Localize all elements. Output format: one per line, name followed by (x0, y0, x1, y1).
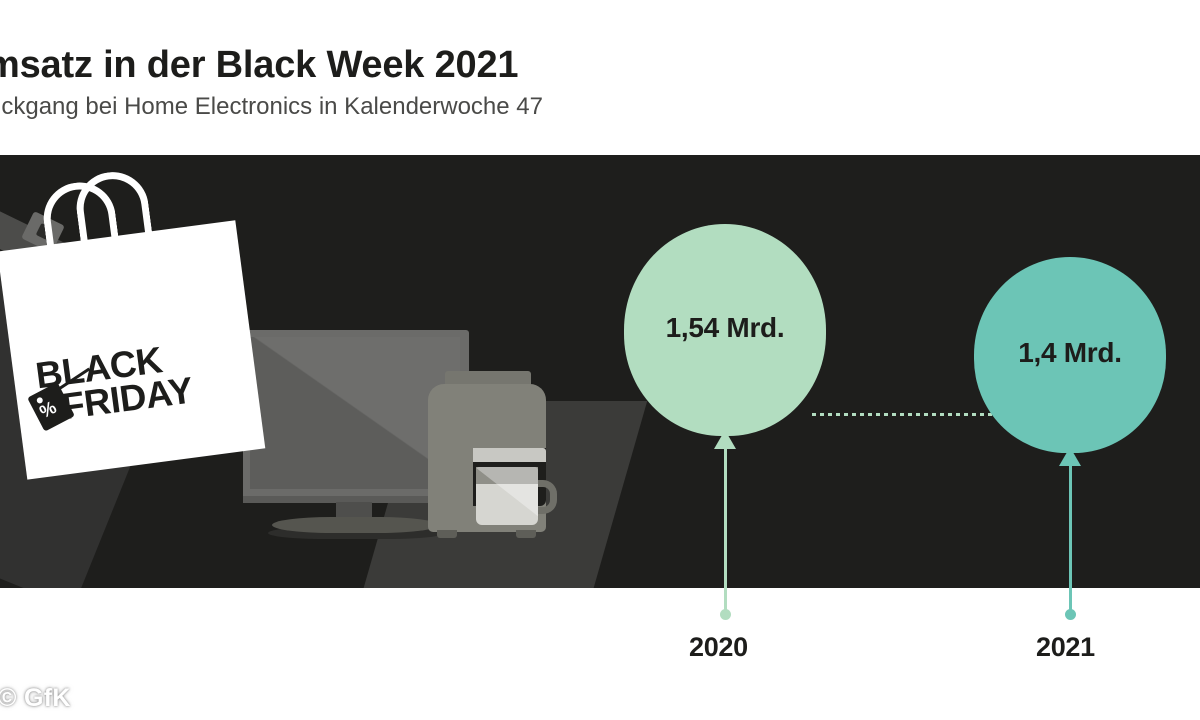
page-subtitle: ückgang bei Home Electronics in Kalender… (0, 93, 543, 121)
product-illustration: BLACK FRIDAY % (0, 155, 600, 588)
television-base (272, 517, 438, 533)
page-title: msatz in der Black Week 2021 (0, 44, 518, 87)
coffee-machine-foot-left (437, 530, 457, 538)
axis-label-2021: 2021 (1036, 632, 1095, 663)
coffee-machine-warming-plate (473, 448, 546, 462)
coffee-machine-foot-right (516, 530, 536, 538)
axis-label-2020: 2020 (689, 632, 748, 663)
balloon-2020-string-dot (720, 609, 731, 620)
balloon-2021-string (1069, 461, 1072, 616)
shopping-bag-face: BLACK FRIDAY % (0, 220, 265, 479)
header: msatz in der Black Week 2021 ückgang bei… (0, 0, 1200, 155)
balloon-2021: 1,4 Mrd. (974, 257, 1166, 453)
infographic-page: msatz in der Black Week 2021 ückgang bei… (0, 0, 1200, 720)
copyright-watermark: © GfK (0, 684, 71, 713)
balloon-2020: 1,54 Mrd. (624, 224, 826, 436)
balloon-2020-string (724, 444, 727, 616)
coffee-mug-glare (476, 467, 538, 525)
balloon-2021-string-dot (1065, 609, 1076, 620)
shopping-bag-icon: BLACK FRIDAY % (0, 200, 265, 479)
balloon-2021-value: 1,4 Mrd. (1018, 337, 1121, 369)
balloon-2020-value: 1,54 Mrd. (666, 312, 785, 344)
